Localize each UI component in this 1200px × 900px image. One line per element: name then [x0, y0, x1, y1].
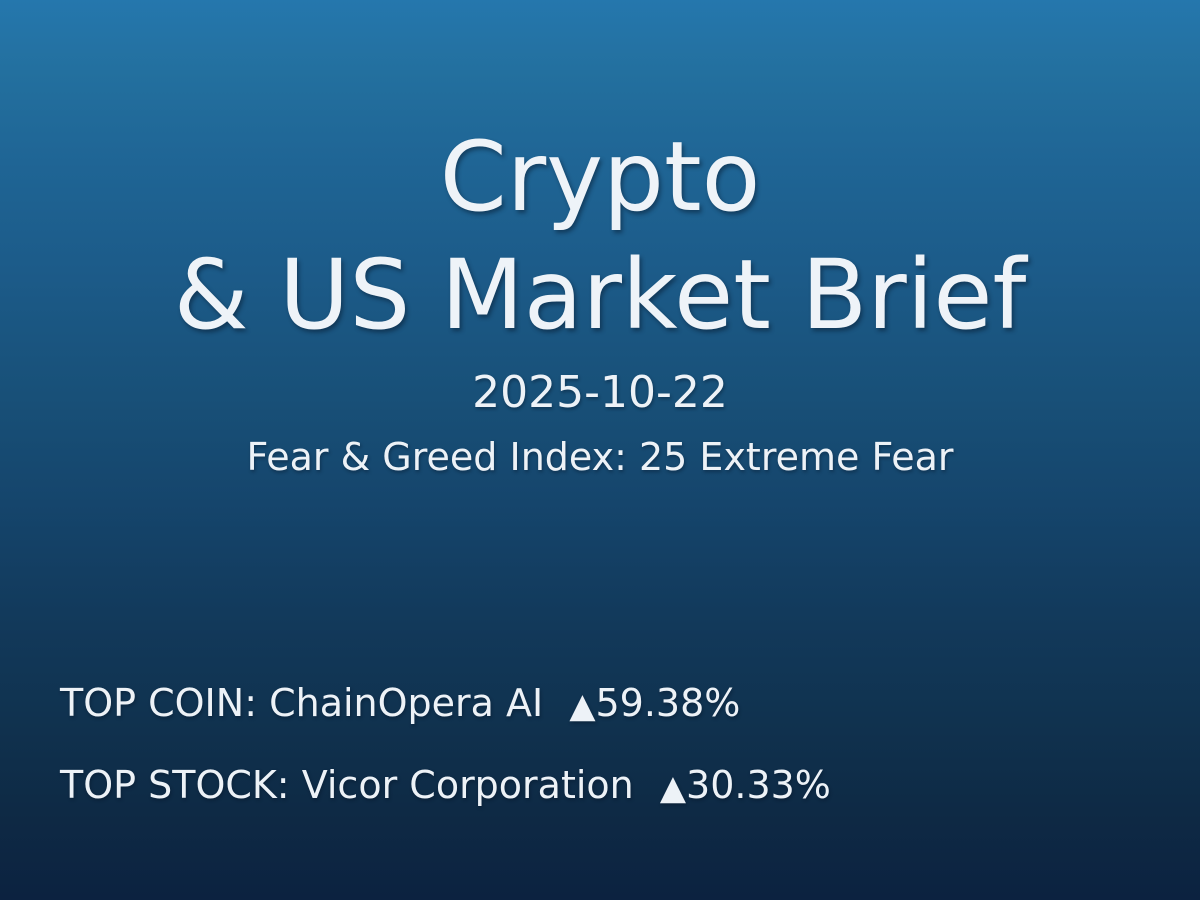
top-coin-name: ChainOpera AI: [269, 681, 543, 725]
list-item: TOP STOCK: Vicor Corporation ▲30.33%: [60, 762, 1140, 811]
header-block: Crypto & US Market Brief 2025-10-22 Fear…: [0, 118, 1200, 480]
title-line-2: & US Market Brief: [0, 236, 1200, 354]
top-stock-change: 30.33%: [686, 763, 831, 807]
top-stock-name: Vicor Corporation: [302, 763, 634, 807]
top-stock-label: TOP STOCK:: [60, 763, 290, 807]
slide-canvas: Crypto & US Market Brief 2025-10-22 Fear…: [0, 0, 1200, 900]
top-coin-change: 59.38%: [596, 681, 741, 725]
highlights-list: TOP COIN: ChainOpera AI ▲59.38% TOP STOC…: [60, 680, 1140, 811]
list-item: TOP COIN: ChainOpera AI ▲59.38%: [60, 680, 1140, 729]
arrow-up-icon: ▲: [660, 765, 686, 811]
arrow-up-icon: ▲: [569, 683, 595, 729]
report-date: 2025-10-22: [0, 366, 1200, 420]
page-title: Crypto & US Market Brief: [0, 118, 1200, 354]
fear-greed-index: Fear & Greed Index: 25 Extreme Fear: [0, 434, 1200, 480]
top-coin-label: TOP COIN:: [60, 681, 257, 725]
title-line-1: Crypto: [440, 121, 761, 233]
